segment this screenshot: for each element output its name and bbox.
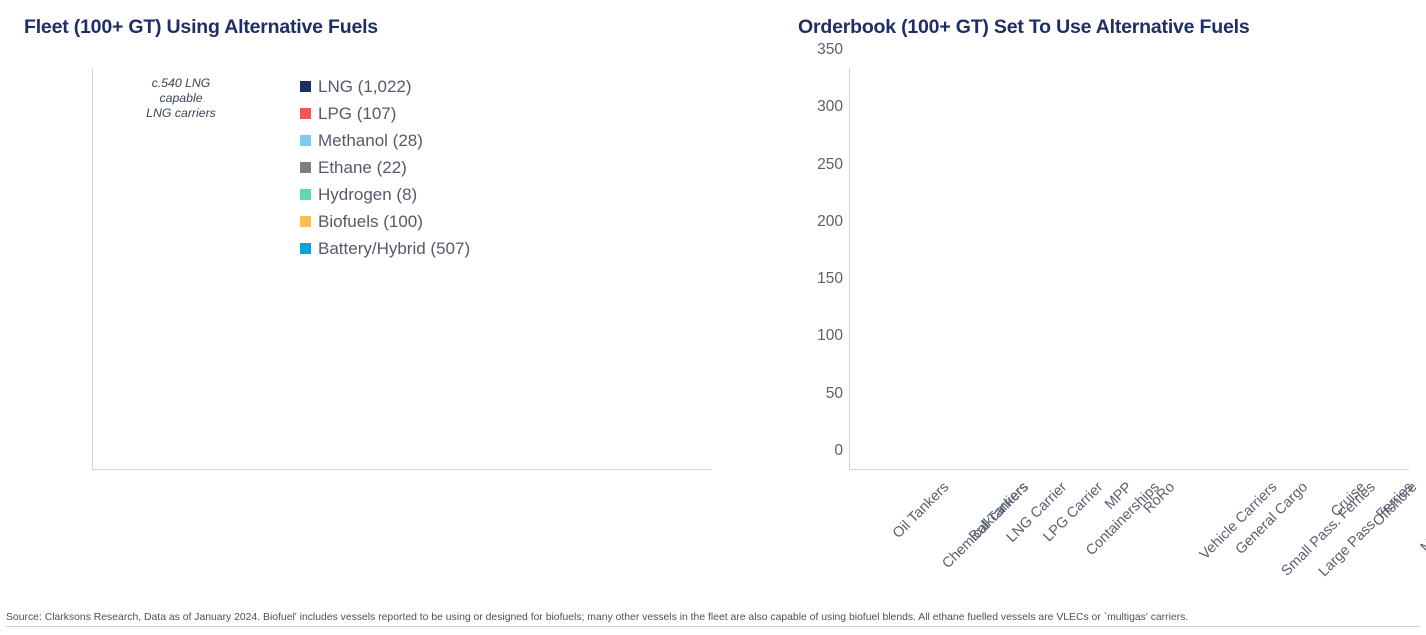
source-footnote: Source: Clarksons Research, Data as of J… <box>6 612 1420 627</box>
bar-slot[interactable] <box>1036 68 1073 469</box>
legend-label: Ethane (22) <box>318 158 407 178</box>
y-axis-tick: 300 <box>817 98 843 116</box>
fleet-chart-panel: Fleet (100+ GT) Using Alternative Fuels … <box>0 0 713 600</box>
plot-area-right: 050100150200250300350 Oil TankersChemica… <box>849 68 1409 470</box>
y-axis-tick: 200 <box>817 213 843 231</box>
bar-slot[interactable] <box>850 68 887 469</box>
y-axis-tick: 150 <box>817 270 843 288</box>
orderbook-chart-panel: Orderbook (100+ GT) Set To Use Alternati… <box>713 0 1426 600</box>
y-axis-tick: 350 <box>817 41 843 59</box>
bar-slot[interactable] <box>1297 68 1334 469</box>
legend-swatch-icon <box>300 243 311 254</box>
bar-slot[interactable] <box>1148 68 1185 469</box>
legend-item-hydrogen[interactable]: Hydrogen (8) <box>300 181 470 208</box>
y-axis-tick: 50 <box>826 385 843 403</box>
legend-swatch-icon <box>300 162 311 173</box>
bar-slot[interactable] <box>134 68 175 469</box>
legend-label: Methanol (28) <box>318 131 423 151</box>
legend-swatch-icon <box>300 216 311 227</box>
legend-item-biofuels[interactable]: Biofuels (100) <box>300 208 470 235</box>
bar-slot[interactable] <box>217 68 258 469</box>
bar-slot[interactable] <box>999 68 1036 469</box>
legend-swatch-icon <box>300 189 311 200</box>
legend-label: LNG (1,022) <box>318 77 412 97</box>
legend-swatch-icon <box>300 135 311 146</box>
legend-item-methanol[interactable]: Methanol (28) <box>300 127 470 154</box>
y-axis-tick: 100 <box>817 327 843 345</box>
bar-slot[interactable] <box>1111 68 1148 469</box>
bar-slot[interactable] <box>671 68 712 469</box>
legend-left: LNG (1,022)LPG (107)Methanol (28)Ethane … <box>300 73 470 262</box>
bar-slot[interactable] <box>1260 68 1297 469</box>
legend-label: Hydrogen (8) <box>318 185 417 205</box>
legend-label: Battery/Hybrid (507) <box>318 239 470 259</box>
bar-slot[interactable] <box>464 68 505 469</box>
y-axis-tick: 0 <box>834 442 843 460</box>
legend-item-ethane[interactable]: Ethane (22) <box>300 154 470 181</box>
chart-page: Fleet (100+ GT) Using Alternative Fuels … <box>0 0 1426 635</box>
bar-slot[interactable] <box>887 68 924 469</box>
bar-slot[interactable] <box>258 68 299 469</box>
legend-item-lpg[interactable]: LPG (107) <box>300 100 470 127</box>
bar-slot[interactable] <box>93 68 134 469</box>
bar-slot[interactable] <box>588 68 629 469</box>
bar-slot[interactable] <box>1185 68 1222 469</box>
x-axis-label: Offshore <box>1370 479 1420 529</box>
page-title-left: Fleet (100+ GT) Using Alternative Fuels <box>24 16 378 39</box>
page-title-right: Orderbook (100+ GT) Set To Use Alternati… <box>798 16 1249 39</box>
annotation-lng-capable-fleet: c.540 LNG capable LNG carriers <box>133 76 229 121</box>
bar-slot[interactable] <box>1334 68 1371 469</box>
legend-label: LPG (107) <box>318 104 396 124</box>
bar-group-right <box>850 68 1409 469</box>
bar-slot[interactable] <box>1223 68 1260 469</box>
x-axis-label: Oil Tankers <box>890 479 952 541</box>
bar-slot[interactable] <box>547 68 588 469</box>
bar-slot[interactable] <box>925 68 962 469</box>
bar-slot[interactable] <box>176 68 217 469</box>
legend-item-lng[interactable]: LNG (1,022) <box>300 73 470 100</box>
bar-slot[interactable] <box>962 68 999 469</box>
legend-swatch-icon <box>300 81 311 92</box>
bar-slot[interactable] <box>629 68 670 469</box>
legend-item-battery[interactable]: Battery/Hybrid (507) <box>300 235 470 262</box>
legend-swatch-icon <box>300 108 311 119</box>
bar-slot[interactable] <box>1074 68 1111 469</box>
bar-slot[interactable] <box>506 68 547 469</box>
legend-label: Biofuels (100) <box>318 212 423 232</box>
y-axis-tick: 250 <box>817 156 843 174</box>
bar-slot[interactable] <box>1372 68 1409 469</box>
